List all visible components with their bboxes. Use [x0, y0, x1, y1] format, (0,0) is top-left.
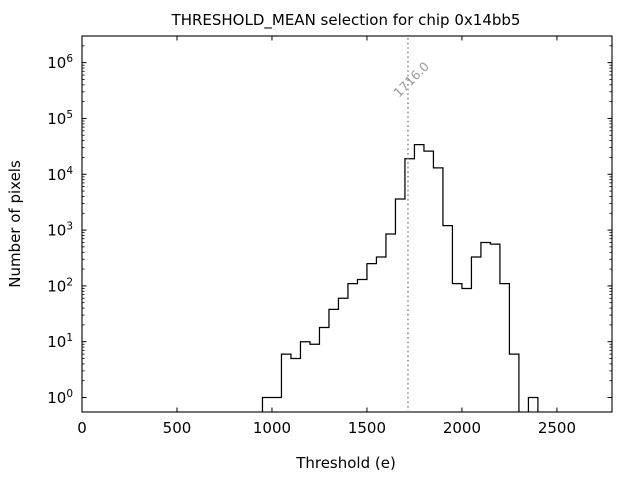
x-tick-label: 2000 — [443, 419, 481, 437]
figure-background — [0, 0, 640, 480]
x-tick-label: 0 — [77, 419, 87, 437]
chart-title: THRESHOLD_MEAN selection for chip 0x14bb… — [171, 11, 521, 30]
histogram-chart: THRESHOLD_MEAN selection for chip 0x14bb… — [0, 0, 640, 480]
figure-canvas: THRESHOLD_MEAN selection for chip 0x14bb… — [0, 0, 640, 480]
x-tick-label: 1000 — [253, 419, 291, 437]
x-tick-label: 500 — [163, 419, 192, 437]
x-tick-label: 1500 — [348, 419, 386, 437]
x-tick-label: 2500 — [538, 419, 576, 437]
y-axis-title: Number of pixels — [6, 160, 24, 288]
x-axis-title: Threshold (e) — [295, 454, 396, 472]
